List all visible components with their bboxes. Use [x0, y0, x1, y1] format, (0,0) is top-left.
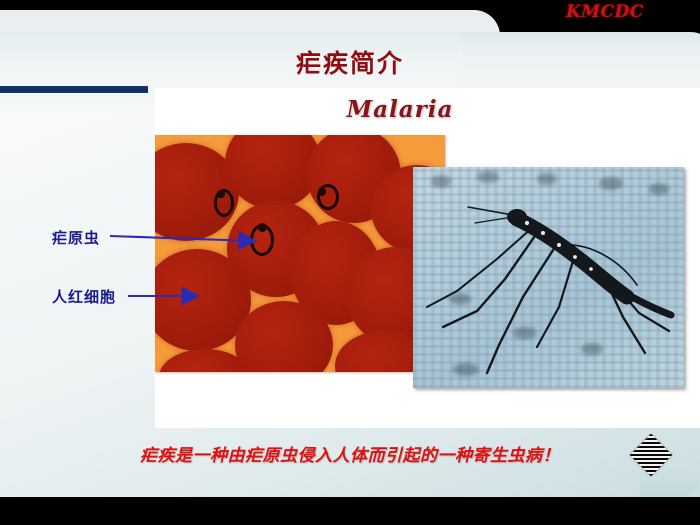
- mosquito-illustration: [413, 167, 684, 388]
- footer-black-band: [0, 497, 700, 525]
- page-title: 疟疾简介: [0, 44, 700, 80]
- blood-smear-figure: [155, 135, 445, 372]
- annotation-label-parasite: 疟原虫: [52, 227, 100, 248]
- title-underline-rule: [0, 86, 148, 93]
- annotation-label-rbc: 人红细胞: [52, 286, 116, 307]
- mosquito-figure: [413, 167, 684, 388]
- brand-logo-text: KMCDC: [566, 2, 644, 22]
- slide-caption: 疟疾是一种由疟原虫侵入人体而引起的一种寄生虫病！: [0, 441, 700, 466]
- figure-heading-malaria: Malaria: [155, 96, 645, 123]
- presentation-slide: KMCDC 疟疾简介 Malaria: [0, 0, 700, 525]
